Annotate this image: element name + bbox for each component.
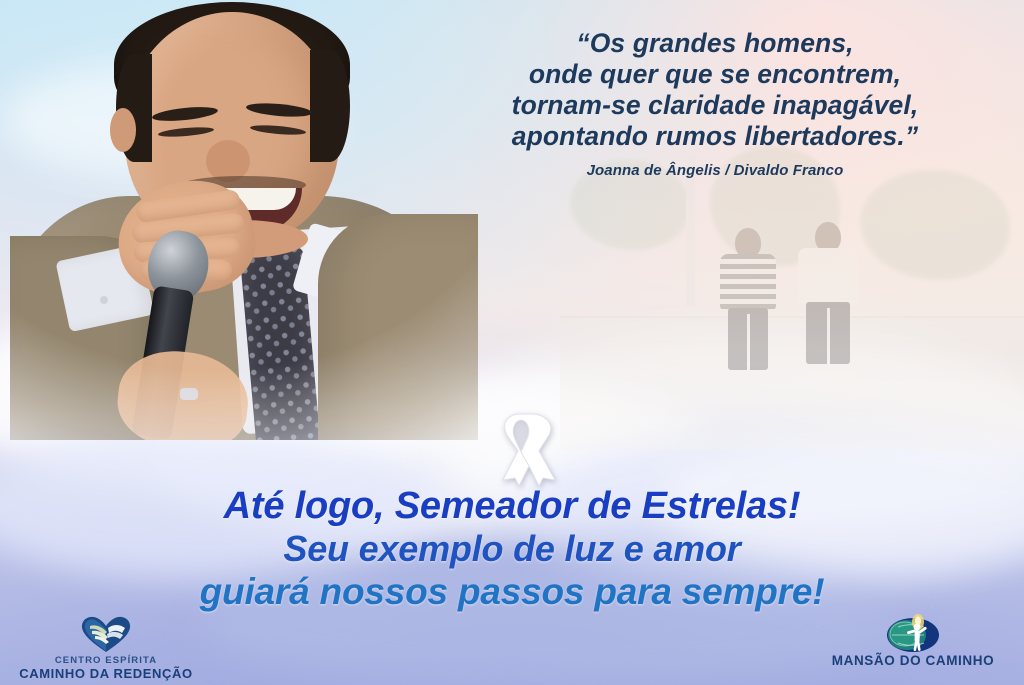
wall-shape	[560, 316, 1024, 350]
background-scene-walking-figures	[560, 150, 1024, 450]
quote-line-2: onde quer que se encontrem,	[420, 59, 1010, 90]
portrait-photo	[0, 0, 480, 440]
mourning-ribbon-icon	[485, 408, 557, 488]
quote-line-3: tornam-se claridade inapagável,	[420, 90, 1010, 121]
headline-block: Até logo, Semeador de Estrelas! Seu exem…	[0, 484, 1024, 613]
figure-legs	[728, 308, 768, 370]
quote-attribution: Joanna de Ângelis / Divaldo Franco	[420, 162, 1010, 180]
logo-right-line-1: MANSÃO DO CAMINHO	[808, 654, 1018, 667]
hair-side-right	[310, 50, 350, 162]
tree-shape	[860, 170, 1010, 280]
headline-line-2: Seu exemplo de luz e amor	[0, 528, 1024, 570]
quote-block: “Os grandes homens, onde quer que se enc…	[420, 28, 1010, 180]
walking-figure-striped	[720, 228, 776, 368]
logo-left-text: CENTRO ESPÍRITA CAMINHO DA REDENÇÃO	[6, 654, 206, 680]
cuff-button	[100, 296, 108, 304]
logo-right-text: MANSÃO DO CAMINHO	[808, 654, 1018, 667]
logo-left-line-2: CAMINHO DA REDENÇÃO	[6, 667, 206, 680]
quote-line-1: “Os grandes homens,	[420, 28, 1010, 59]
logo-centro-espirita[interactable]: CENTRO ESPÍRITA CAMINHO DA REDENÇÃO	[6, 614, 206, 680]
figure-torso	[720, 254, 776, 310]
headline-line-1: Até logo, Semeador de Estrelas!	[0, 484, 1024, 528]
heart-hands-icon	[6, 614, 206, 654]
globe-figure-icon	[808, 614, 1018, 654]
jacket-right-panel	[318, 214, 478, 446]
ground-shape	[560, 340, 1024, 450]
figure-head	[815, 222, 841, 252]
figure-head	[735, 228, 761, 258]
figure-torso	[798, 248, 858, 306]
ear	[110, 108, 136, 152]
ring	[180, 388, 198, 400]
headline-line-3: guiará nossos passos para sempre!	[0, 570, 1024, 613]
memorial-poster: “Os grandes homens, onde quer que se enc…	[0, 0, 1024, 685]
walking-figure-white-shirt	[798, 222, 858, 368]
logo-mansao-do-caminho[interactable]: MANSÃO DO CAMINHO	[808, 614, 1018, 667]
quote-line-4: apontando rumos libertadores.”	[420, 121, 1010, 152]
figure-legs	[806, 302, 850, 364]
